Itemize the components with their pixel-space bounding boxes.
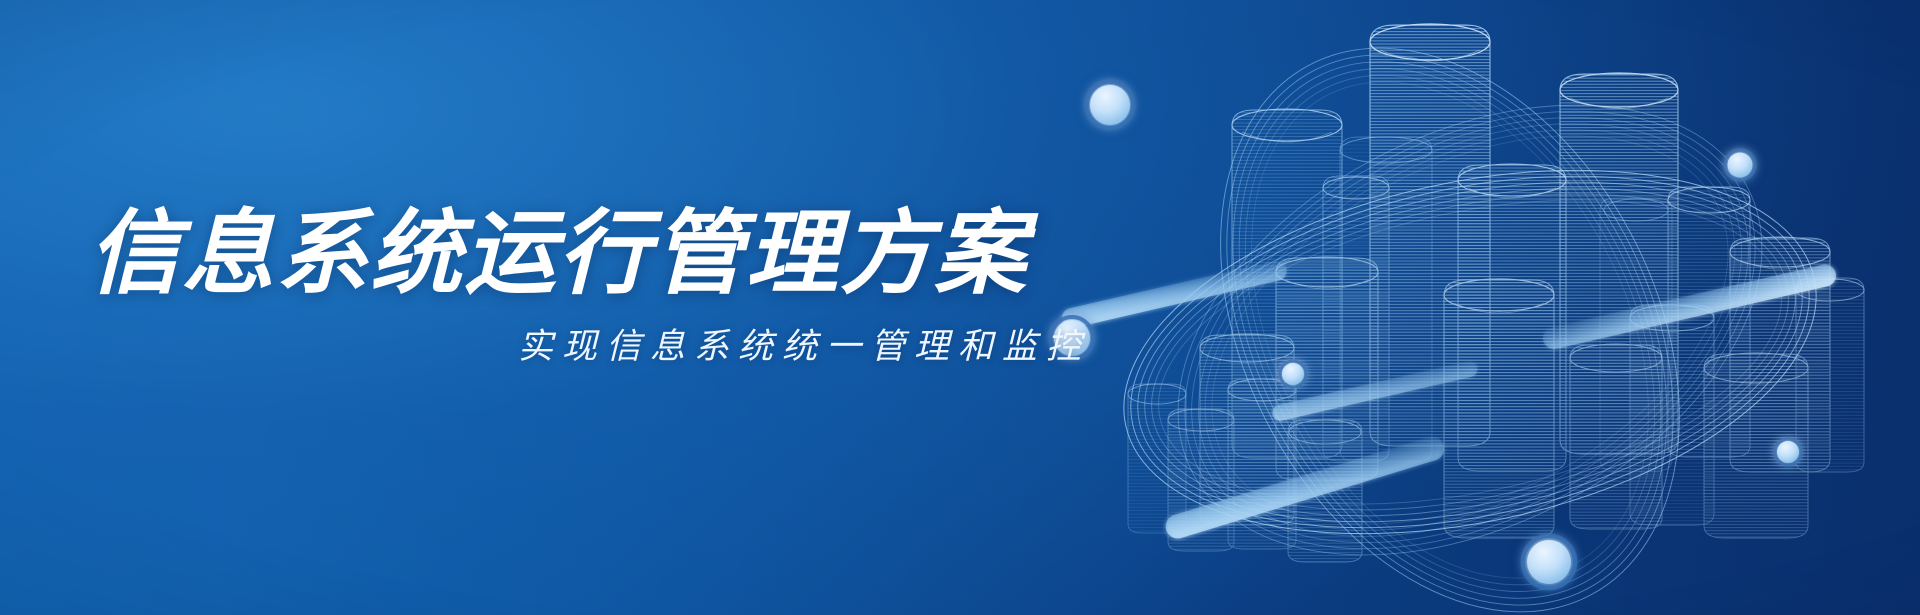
glow-dot-bottom-right-small — [1775, 439, 1801, 465]
page-title: 信息系统运行管理方案 — [88, 206, 1098, 304]
tower-17 — [1288, 420, 1362, 562]
tower-4 — [1458, 164, 1566, 471]
tower-6 — [1276, 257, 1378, 480]
glow-dot-bottom — [1523, 536, 1575, 588]
tower-3 — [1560, 73, 1678, 454]
tower-13 — [1704, 353, 1808, 538]
orbit-ring-front-2 — [1128, 0, 1772, 615]
tower-2 — [1370, 24, 1490, 446]
tower-1 — [1232, 109, 1342, 458]
tower-7 — [1668, 187, 1750, 457]
page-subtitle: 实现信息系统统一管理和监控 — [88, 318, 1098, 369]
tower-10 — [1444, 279, 1554, 538]
light-streak-top-right — [1541, 262, 1838, 351]
tower-16 — [1228, 379, 1296, 549]
light-streak-bottom — [1163, 434, 1447, 542]
tower-18 — [1796, 278, 1864, 472]
wireframe-city-illustration — [1040, 0, 1920, 615]
orbit-ring-front-1 — [1090, 113, 1849, 592]
glow-dot-center-small — [1280, 361, 1306, 387]
headline-block: 信息系统运行管理方案 实现信息系统统一管理和监控 — [88, 206, 1098, 369]
tower-12 — [1630, 305, 1714, 525]
tower-back-a — [1340, 137, 1432, 462]
tower-cluster — [1128, 24, 1864, 562]
tower-14 — [1128, 384, 1186, 533]
tower-11 — [1570, 344, 1662, 529]
tower-back-b — [1600, 198, 1672, 471]
glow-dot-top-left — [1087, 82, 1133, 128]
banner: 信息系统运行管理方案 实现信息系统统一管理和监控 — [0, 0, 1920, 615]
tower-15 — [1168, 409, 1234, 551]
glow-dot-right-small — [1725, 150, 1755, 180]
light-streak-mid — [1271, 359, 1479, 422]
orbit-ring-back — [1103, 14, 1837, 615]
tower-5 — [1323, 176, 1389, 461]
tower-9 — [1200, 334, 1294, 525]
tower-8 — [1730, 237, 1830, 472]
